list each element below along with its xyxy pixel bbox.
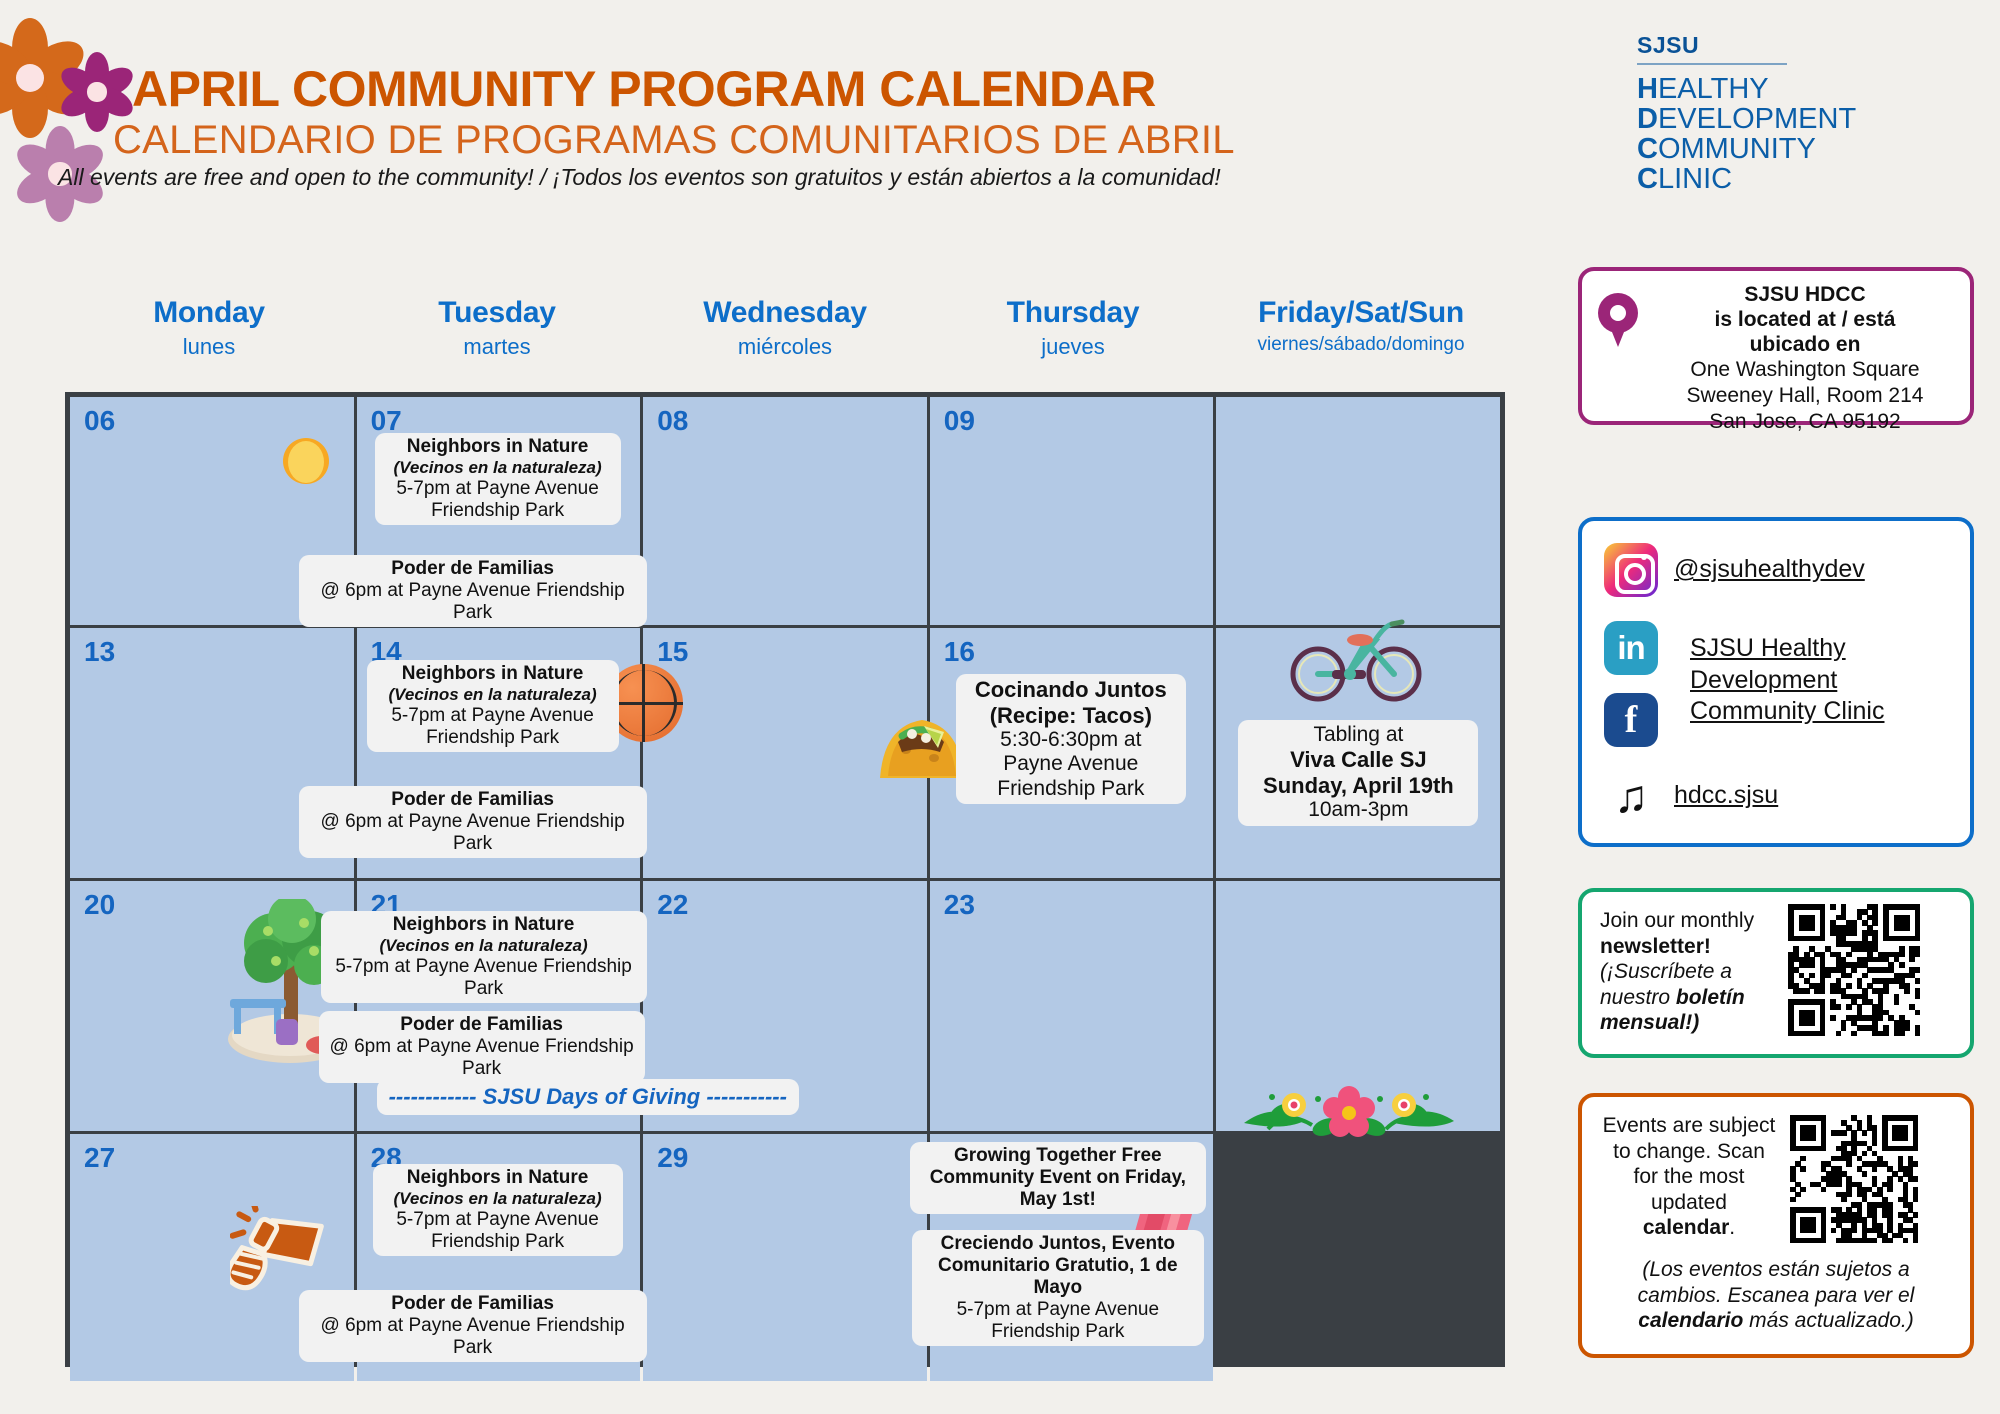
location-pin-icon bbox=[1598, 293, 1638, 349]
day-cell-09[interactable]: 09 bbox=[930, 397, 1214, 625]
event-poder-de-familias[interactable]: Poder de Familias @ 6pm at Payne Avenue … bbox=[299, 1290, 647, 1362]
event-detail-line2: Payne Avenue bbox=[966, 752, 1176, 776]
day-header-monday: Monday lunes bbox=[65, 296, 353, 376]
event-detail-line1: 5-7pm at Payne Avenue bbox=[385, 478, 611, 500]
newsletter-line-3: (¡Suscríbete a bbox=[1600, 960, 1732, 983]
events-qr-code[interactable] bbox=[1790, 1115, 1918, 1243]
event-title: Neighbors in Nature bbox=[385, 436, 611, 458]
day-number: 09 bbox=[944, 405, 975, 437]
event-title: Poder de Familias bbox=[309, 789, 637, 811]
event-viva-calle[interactable]: Tabling at Viva Calle SJ Sunday, April 1… bbox=[1238, 720, 1478, 826]
day-number: 22 bbox=[657, 889, 688, 921]
event-title-line2: Community Event on Friday, bbox=[920, 1167, 1196, 1189]
event-subtitle: (Vecinos en la naturaleza) bbox=[383, 1189, 613, 1209]
event-detail: 5-7pm at Payne Avenue Friendship Park bbox=[331, 956, 637, 1000]
day-header-thursday: Thursday jueves bbox=[929, 296, 1217, 376]
facebook-icon: f bbox=[1604, 693, 1658, 747]
event-title-line2: (Recipe: Tacos) bbox=[966, 703, 1176, 729]
event-poder-de-familias[interactable]: Poder de Familias @ 6pm at Payne Avenue … bbox=[299, 555, 647, 627]
social-media-card: @sjsuhealthydev in f SJSU Healthy Develo… bbox=[1578, 517, 1974, 847]
logo-line-community: COMMUNITY bbox=[1637, 135, 1856, 165]
calendar-poster: APRIL COMMUNITY PROGRAM CALENDAR CALENDA… bbox=[0, 0, 2000, 1414]
event-detail-line2: 10am-3pm bbox=[1248, 798, 1468, 822]
social-item-linkedin[interactable]: in bbox=[1604, 621, 1658, 675]
event-title: Poder de Familias bbox=[329, 1014, 635, 1036]
event-detail: @ 6pm at Payne Avenue Friendship Park bbox=[329, 1036, 635, 1080]
day-number: 08 bbox=[657, 405, 688, 437]
social-item-facebook[interactable]: f bbox=[1604, 693, 1658, 747]
day-header-wednesday-es: miércoles bbox=[641, 334, 929, 360]
calendar-grid: 06 07 Neighbors in Nature (Vecinos en la… bbox=[65, 392, 1505, 1367]
event-title-line1: Creciendo Juntos, Evento bbox=[922, 1233, 1194, 1255]
event-title: Poder de Familias bbox=[309, 1293, 637, 1315]
event-title-line1: Viva Calle SJ bbox=[1248, 747, 1468, 773]
address-line-1: SJSU HDCC bbox=[1640, 283, 1970, 308]
newsletter-qr-code[interactable] bbox=[1788, 904, 1920, 1036]
event-detail-line2: Friendship Park bbox=[922, 1321, 1194, 1343]
day-header-monday-es: lunes bbox=[65, 334, 353, 360]
tiktok-icon: ♫ bbox=[1604, 769, 1658, 823]
logo-sjsu-text: SJSU bbox=[1637, 32, 1856, 59]
event-subtitle: (Vecinos en la naturaleza) bbox=[385, 458, 611, 478]
linkedin-facebook-label[interactable]: SJSU Healthy Development Community Clini… bbox=[1690, 633, 1940, 728]
event-title-line3: Mayo bbox=[922, 1277, 1194, 1299]
notice-es-line-3b: más actualizado.) bbox=[1743, 1309, 1913, 1332]
day-cell-08[interactable]: 08 bbox=[643, 397, 927, 625]
address-line-3: ubicado en bbox=[1640, 333, 1970, 358]
tiktok-handle[interactable]: hdcc.sjsu bbox=[1674, 780, 1778, 812]
event-neighbors-in-nature[interactable]: Neighbors in Nature (Vecinos en la natur… bbox=[367, 660, 619, 752]
day-cell-weekend-2[interactable]: Tabling at Viva Calle SJ Sunday, April 1… bbox=[1216, 628, 1500, 878]
logo-line-healthy: HEALTHY bbox=[1637, 75, 1856, 105]
day-header-weekend-en: Friday/Sat/Sun bbox=[1217, 296, 1505, 330]
newsletter-text: Join our monthly newsletter! (¡Suscríbet… bbox=[1600, 908, 1775, 1036]
social-item-tiktok[interactable]: ♫ hdcc.sjsu bbox=[1604, 769, 1778, 823]
day-cell-20[interactable]: 20 bbox=[70, 881, 354, 1131]
sun-icon bbox=[270, 425, 342, 497]
event-detail: @ 6pm at Payne Avenue Friendship Park bbox=[309, 1315, 637, 1359]
day-number: 23 bbox=[944, 889, 975, 921]
day-cell-21[interactable]: 21 Neighbors in Nature (Vecinos en la na… bbox=[357, 881, 641, 1131]
day-number: 16 bbox=[944, 636, 975, 668]
page-subtitle: CALENDARIO DE PROGRAMAS COMUNITARIOS DE … bbox=[113, 118, 1235, 163]
taco-icon bbox=[876, 706, 968, 786]
event-creciendo-juntos[interactable]: Creciendo Juntos, Evento Comunitario Gra… bbox=[912, 1230, 1204, 1346]
logo-rule bbox=[1637, 63, 1787, 65]
event-detail-line1: 5-7pm at Payne Avenue bbox=[383, 1209, 613, 1231]
event-title-line2: Sunday, April 19th bbox=[1248, 773, 1468, 799]
day-header-tuesday: Tuesday martes bbox=[353, 296, 641, 376]
logo-line-clinic: CLINIC bbox=[1637, 165, 1856, 195]
day-cell-28[interactable]: 28 Neighbors in Nature (Vecinos en la na… bbox=[357, 1134, 641, 1381]
event-title-line1: Cocinando Juntos bbox=[966, 677, 1176, 703]
event-title-line1: Growing Together Free bbox=[920, 1145, 1196, 1167]
address-line-5: Sweeney Hall, Room 214 bbox=[1640, 383, 1970, 409]
address-text: SJSU HDCC is located at / está ubicado e… bbox=[1640, 283, 1970, 434]
event-poder-de-familias[interactable]: Poder de Familias @ 6pm at Payne Avenue … bbox=[319, 1011, 645, 1083]
event-title: Neighbors in Nature bbox=[383, 1167, 613, 1189]
social-item-instagram[interactable]: @sjsuhealthydev bbox=[1604, 543, 1865, 597]
day-number: 15 bbox=[657, 636, 688, 668]
logo-line-development: DEVELOPMENT bbox=[1637, 105, 1856, 135]
event-neighbors-in-nature[interactable]: Neighbors in Nature (Vecinos en la natur… bbox=[375, 433, 621, 525]
notice-es-line-3a: calendario bbox=[1638, 1309, 1743, 1332]
page-title: APRIL COMMUNITY PROGRAM CALENDAR bbox=[132, 60, 1156, 118]
event-detail-line3: Friendship Park bbox=[966, 777, 1176, 801]
event-title: Neighbors in Nature bbox=[331, 914, 637, 936]
day-header-tuesday-en: Tuesday bbox=[353, 296, 641, 330]
event-poder-de-familias[interactable]: Poder de Familias @ 6pm at Payne Avenue … bbox=[299, 786, 647, 858]
events-notice-text-es: (Los eventos están sujetos a cambios. Es… bbox=[1596, 1257, 1956, 1334]
event-title-line3: May 1st! bbox=[920, 1189, 1196, 1211]
notice-es-line-2: cambios. Escanea para ver el bbox=[1638, 1284, 1915, 1307]
day-cell-29[interactable]: 29 bbox=[643, 1134, 927, 1381]
event-neighbors-in-nature[interactable]: Neighbors in Nature (Vecinos en la natur… bbox=[373, 1164, 623, 1256]
day-number: 29 bbox=[657, 1142, 688, 1174]
event-detail-line1: 5-7pm at Payne Avenue bbox=[377, 705, 609, 727]
event-detail: @ 6pm at Payne Avenue Friendship Park bbox=[309, 811, 637, 855]
newsletter-line-4b: boletín bbox=[1676, 986, 1745, 1009]
day-header-thursday-en: Thursday bbox=[929, 296, 1217, 330]
day-cell-weekend-1[interactable] bbox=[1216, 397, 1500, 625]
day-number: 06 bbox=[84, 405, 115, 437]
newsletter-card: Join our monthly newsletter! (¡Suscríbet… bbox=[1578, 888, 1974, 1058]
day-header-weekend: Friday/Sat/Sun viernes/sábado/domingo bbox=[1217, 296, 1505, 376]
address-line-4: One Washington Square bbox=[1640, 357, 1970, 383]
day-cell-23[interactable]: 23 bbox=[930, 881, 1214, 1131]
newsletter-line-1: Join our monthly bbox=[1600, 909, 1754, 932]
day-header-monday-en: Monday bbox=[65, 296, 353, 330]
event-subtitle: (Vecinos en la naturaleza) bbox=[331, 936, 637, 956]
event-subtitle: (Vecinos en la naturaleza) bbox=[377, 685, 609, 705]
notice-es-line-1: (Los eventos están sujetos a bbox=[1642, 1258, 1909, 1281]
event-detail-line1: 5-7pm at Payne Avenue bbox=[922, 1299, 1194, 1321]
day-header-weekend-es: viernes/sábado/domingo bbox=[1217, 334, 1505, 356]
event-title: Neighbors in Nature bbox=[377, 663, 609, 685]
newsletter-line-2: newsletter! bbox=[1600, 935, 1711, 958]
instagram-handle[interactable]: @sjsuhealthydev bbox=[1674, 554, 1865, 586]
event-title: Poder de Familias bbox=[309, 558, 637, 580]
day-header-tuesday-es: martes bbox=[353, 334, 641, 360]
event-detail-line2: Friendship Park bbox=[383, 1231, 613, 1253]
event-neighbors-in-nature[interactable]: Neighbors in Nature (Vecinos en la natur… bbox=[321, 911, 647, 1003]
notice-line-1: Events are subject bbox=[1603, 1114, 1776, 1137]
event-title-line2: Comunitario Gratutio, 1 de bbox=[922, 1255, 1194, 1277]
event-detail-line1: Tabling at bbox=[1248, 723, 1468, 747]
event-sjsu-days-of-giving[interactable]: ------------ SJSU Days of Giving -------… bbox=[377, 1079, 799, 1115]
day-number: 27 bbox=[84, 1142, 115, 1174]
day-cell-07[interactable]: 07 Neighbors in Nature (Vecinos en la na… bbox=[357, 397, 641, 625]
event-detail-line1: 5:30-6:30pm at bbox=[966, 728, 1176, 752]
event-detail-line2: Friendship Park bbox=[385, 500, 611, 522]
day-cell-30[interactable]: 30 Growing Together Free Community Event… bbox=[930, 1134, 1214, 1381]
newsletter-line-4a: nuestro bbox=[1600, 986, 1676, 1009]
day-cell-14[interactable]: 14 Neighbors in Nature (Vecinos en la na… bbox=[357, 628, 641, 878]
instagram-icon bbox=[1604, 543, 1658, 597]
flower-band-icon bbox=[1234, 1083, 1446, 1137]
newsletter-line-5: mensual!) bbox=[1600, 1011, 1699, 1034]
day-number: 20 bbox=[84, 889, 115, 921]
day-header-thursday-es: jueves bbox=[929, 334, 1217, 360]
event-detail: @ 6pm at Payne Avenue Friendship Park bbox=[309, 580, 637, 624]
notice-line-2: to change. Scan bbox=[1613, 1140, 1765, 1163]
notice-line-5: calendar bbox=[1643, 1216, 1729, 1239]
notice-line-4: updated bbox=[1651, 1191, 1727, 1214]
address-line-2: is located at / está bbox=[1640, 308, 1970, 333]
event-cocinando-juntos[interactable]: Cocinando Juntos (Recipe: Tacos) 5:30-6:… bbox=[956, 674, 1186, 804]
day-cell-16[interactable]: 16 Cocinando Juntos (Recipe: bbox=[930, 628, 1214, 878]
event-detail-line2: Friendship Park bbox=[377, 727, 609, 749]
sjsu-hdcc-logo: SJSU HEALTHY DEVELOPMENT COMMUNITY CLINI… bbox=[1637, 32, 1856, 194]
free-events-note: All events are free and open to the comm… bbox=[58, 164, 1221, 191]
events-notice-text-en: Events are subject to change. Scan for t… bbox=[1596, 1113, 1782, 1241]
day-header-wednesday-en: Wednesday bbox=[641, 296, 929, 330]
day-header-wednesday: Wednesday miércoles bbox=[641, 296, 929, 376]
events-notice-card: Events are subject to change. Scan for t… bbox=[1578, 1093, 1974, 1358]
address-card: SJSU HDCC is located at / está ubicado e… bbox=[1578, 267, 1974, 425]
notice-line-3: for the most bbox=[1634, 1165, 1745, 1188]
day-cell-weekend-3[interactable] bbox=[1216, 881, 1500, 1131]
linkedin-icon: in bbox=[1604, 621, 1658, 675]
day-number: 13 bbox=[84, 636, 115, 668]
address-line-6: San Jose, CA 95192 bbox=[1640, 409, 1970, 435]
event-growing-together[interactable]: Growing Together Free Community Event on… bbox=[910, 1142, 1206, 1214]
bicycle-icon bbox=[1288, 616, 1406, 696]
